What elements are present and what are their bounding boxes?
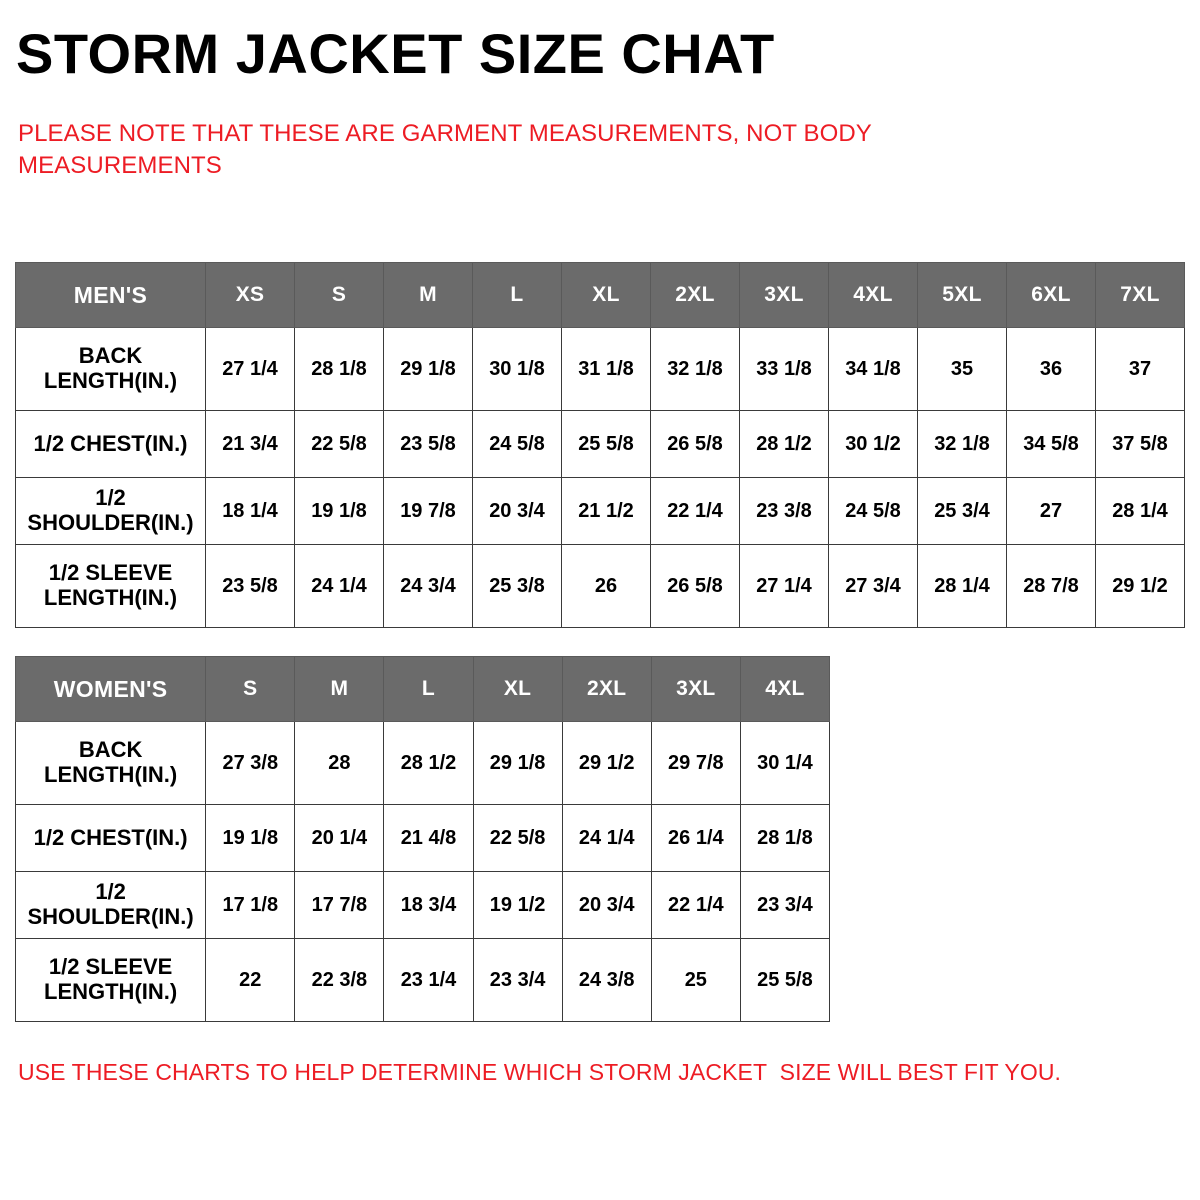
womens-table-head: WOMEN'SSMLXL2XL3XL4XL bbox=[16, 657, 830, 722]
mens-cell-2-9: 27 bbox=[1007, 478, 1096, 545]
mens-column-header-6xl: 6XL bbox=[1007, 263, 1096, 328]
mens-cell-3-4: 26 bbox=[562, 545, 651, 628]
mens-cell-1-0: 21 3/4 bbox=[206, 411, 295, 478]
mens-column-header-l: L bbox=[473, 263, 562, 328]
mens-cell-1-5: 26 5/8 bbox=[651, 411, 740, 478]
womens-column-header-xl: XL bbox=[473, 657, 562, 722]
womens-cell-2-5: 22 1/4 bbox=[651, 872, 740, 939]
mens-cell-0-7: 34 1/8 bbox=[829, 328, 918, 411]
mens-table-body: BACKLENGTH(IN.)27 1/428 1/829 1/830 1/83… bbox=[16, 328, 1185, 628]
mens-cell-1-4: 25 5/8 bbox=[562, 411, 651, 478]
mens-cell-0-0: 27 1/4 bbox=[206, 328, 295, 411]
mens-cell-0-3: 30 1/8 bbox=[473, 328, 562, 411]
womens-cell-1-2: 21 4/8 bbox=[384, 805, 473, 872]
mens-cell-2-2: 19 7/8 bbox=[384, 478, 473, 545]
mens-column-header-4xl: 4XL bbox=[829, 263, 918, 328]
mens-cell-2-6: 23 3/8 bbox=[740, 478, 829, 545]
mens-column-header-xl: XL bbox=[562, 263, 651, 328]
mens-cell-0-1: 28 1/8 bbox=[295, 328, 384, 411]
womens-cell-2-1: 17 7/8 bbox=[295, 872, 384, 939]
mens-cell-3-6: 27 1/4 bbox=[740, 545, 829, 628]
mens-row-label-3: 1/2 SLEEVELENGTH(IN.) bbox=[16, 545, 206, 628]
garment-measurement-note: PLEASE NOTE THAT THESE ARE GARMENT MEASU… bbox=[18, 118, 978, 181]
mens-cell-0-6: 33 1/8 bbox=[740, 328, 829, 411]
womens-cell-0-0: 27 3/8 bbox=[206, 722, 295, 805]
womens-column-header-2xl: 2XL bbox=[562, 657, 651, 722]
mens-cell-1-9: 34 5/8 bbox=[1007, 411, 1096, 478]
mens-cell-0-2: 29 1/8 bbox=[384, 328, 473, 411]
womens-cell-0-4: 29 1/2 bbox=[562, 722, 651, 805]
mens-cell-2-3: 20 3/4 bbox=[473, 478, 562, 545]
chart-usage-note: USE THESE CHARTS TO HELP DETERMINE WHICH… bbox=[18, 1058, 1158, 1088]
womens-row-label-0: BACKLENGTH(IN.) bbox=[16, 722, 206, 805]
mens-column-header-5xl: 5XL bbox=[918, 263, 1007, 328]
womens-cell-3-6: 25 5/8 bbox=[740, 939, 829, 1022]
table-row: 1/2 CHEST(IN.)19 1/820 1/421 4/822 5/824… bbox=[16, 805, 830, 872]
mens-cell-3-0: 23 5/8 bbox=[206, 545, 295, 628]
table-row: 1/2 SLEEVELENGTH(IN.)23 5/824 1/424 3/42… bbox=[16, 545, 1185, 628]
mens-cell-1-6: 28 1/2 bbox=[740, 411, 829, 478]
womens-cell-0-1: 28 bbox=[295, 722, 384, 805]
womens-size-table: WOMEN'SSMLXL2XL3XL4XL BACKLENGTH(IN.)27 … bbox=[15, 656, 830, 1022]
mens-cell-1-1: 22 5/8 bbox=[295, 411, 384, 478]
mens-cell-3-8: 28 1/4 bbox=[918, 545, 1007, 628]
womens-column-header-s: S bbox=[206, 657, 295, 722]
mens-cell-2-7: 24 5/8 bbox=[829, 478, 918, 545]
womens-row-label-3: 1/2 SLEEVELENGTH(IN.) bbox=[16, 939, 206, 1022]
mens-cell-0-8: 35 bbox=[918, 328, 1007, 411]
womens-cell-3-4: 24 3/8 bbox=[562, 939, 651, 1022]
mens-column-header-s: S bbox=[295, 263, 384, 328]
mens-cell-0-5: 32 1/8 bbox=[651, 328, 740, 411]
mens-row-label-2: 1/2 SHOULDER(IN.) bbox=[16, 478, 206, 545]
mens-table-head: MEN'SXSSMLXL2XL3XL4XL5XL6XL7XL bbox=[16, 263, 1185, 328]
table-row: BACKLENGTH(IN.)27 1/428 1/829 1/830 1/83… bbox=[16, 328, 1185, 411]
mens-cell-3-5: 26 5/8 bbox=[651, 545, 740, 628]
womens-cell-2-2: 18 3/4 bbox=[384, 872, 473, 939]
table-row: 1/2 SHOULDER(IN.)18 1/419 1/819 7/820 3/… bbox=[16, 478, 1185, 545]
mens-cell-1-3: 24 5/8 bbox=[473, 411, 562, 478]
womens-table-body: BACKLENGTH(IN.)27 3/82828 1/229 1/829 1/… bbox=[16, 722, 830, 1022]
mens-cell-1-8: 32 1/8 bbox=[918, 411, 1007, 478]
mens-row-label-1: 1/2 CHEST(IN.) bbox=[16, 411, 206, 478]
mens-cell-0-4: 31 1/8 bbox=[562, 328, 651, 411]
table-row: 1/2 CHEST(IN.)21 3/422 5/823 5/824 5/825… bbox=[16, 411, 1185, 478]
mens-cell-2-1: 19 1/8 bbox=[295, 478, 384, 545]
womens-column-header-l: L bbox=[384, 657, 473, 722]
mens-column-header-2xl: 2XL bbox=[651, 263, 740, 328]
mens-size-table: MEN'SXSSMLXL2XL3XL4XL5XL6XL7XL BACKLENGT… bbox=[15, 262, 1185, 628]
table-row: 1/2 SHOULDER(IN.)17 1/817 7/818 3/419 1/… bbox=[16, 872, 830, 939]
mens-cell-2-0: 18 1/4 bbox=[206, 478, 295, 545]
table-row: BACKLENGTH(IN.)27 3/82828 1/229 1/829 1/… bbox=[16, 722, 830, 805]
mens-cell-0-10: 37 bbox=[1096, 328, 1185, 411]
mens-cell-1-10: 37 5/8 bbox=[1096, 411, 1185, 478]
mens-header-row: MEN'SXSSMLXL2XL3XL4XL5XL6XL7XL bbox=[16, 263, 1185, 328]
womens-cell-0-2: 28 1/2 bbox=[384, 722, 473, 805]
womens-header-row: WOMEN'SSMLXL2XL3XL4XL bbox=[16, 657, 830, 722]
mens-cell-2-10: 28 1/4 bbox=[1096, 478, 1185, 545]
mens-row-label-0: BACKLENGTH(IN.) bbox=[16, 328, 206, 411]
mens-cell-1-2: 23 5/8 bbox=[384, 411, 473, 478]
womens-cell-1-3: 22 5/8 bbox=[473, 805, 562, 872]
womens-cell-2-3: 19 1/2 bbox=[473, 872, 562, 939]
womens-column-header-3xl: 3XL bbox=[651, 657, 740, 722]
womens-cell-1-5: 26 1/4 bbox=[651, 805, 740, 872]
womens-cell-3-0: 22 bbox=[206, 939, 295, 1022]
womens-cell-1-4: 24 1/4 bbox=[562, 805, 651, 872]
mens-cell-2-4: 21 1/2 bbox=[562, 478, 651, 545]
womens-row-label-1: 1/2 CHEST(IN.) bbox=[16, 805, 206, 872]
womens-column-header-m: M bbox=[295, 657, 384, 722]
womens-cell-3-1: 22 3/8 bbox=[295, 939, 384, 1022]
mens-cell-3-7: 27 3/4 bbox=[829, 545, 918, 628]
mens-cell-3-9: 28 7/8 bbox=[1007, 545, 1096, 628]
womens-cell-1-0: 19 1/8 bbox=[206, 805, 295, 872]
mens-column-header-m: M bbox=[384, 263, 473, 328]
mens-cell-3-10: 29 1/2 bbox=[1096, 545, 1185, 628]
mens-table-corner-label: MEN'S bbox=[16, 263, 206, 328]
womens-cell-1-6: 28 1/8 bbox=[740, 805, 829, 872]
womens-cell-0-5: 29 7/8 bbox=[651, 722, 740, 805]
mens-cell-2-5: 22 1/4 bbox=[651, 478, 740, 545]
womens-cell-2-4: 20 3/4 bbox=[562, 872, 651, 939]
womens-table-corner-label: WOMEN'S bbox=[16, 657, 206, 722]
womens-cell-3-3: 23 3/4 bbox=[473, 939, 562, 1022]
womens-row-label-2: 1/2 SHOULDER(IN.) bbox=[16, 872, 206, 939]
womens-column-header-4xl: 4XL bbox=[740, 657, 829, 722]
mens-column-header-xs: XS bbox=[206, 263, 295, 328]
womens-cell-2-6: 23 3/4 bbox=[740, 872, 829, 939]
page-title: STORM JACKET SIZE CHAT bbox=[16, 26, 775, 82]
womens-cell-0-6: 30 1/4 bbox=[740, 722, 829, 805]
womens-cell-2-0: 17 1/8 bbox=[206, 872, 295, 939]
mens-cell-2-8: 25 3/4 bbox=[918, 478, 1007, 545]
womens-cell-3-2: 23 1/4 bbox=[384, 939, 473, 1022]
mens-cell-3-1: 24 1/4 bbox=[295, 545, 384, 628]
mens-column-header-3xl: 3XL bbox=[740, 263, 829, 328]
mens-column-header-7xl: 7XL bbox=[1096, 263, 1185, 328]
womens-cell-1-1: 20 1/4 bbox=[295, 805, 384, 872]
mens-cell-3-2: 24 3/4 bbox=[384, 545, 473, 628]
mens-cell-3-3: 25 3/8 bbox=[473, 545, 562, 628]
womens-cell-3-5: 25 bbox=[651, 939, 740, 1022]
mens-cell-1-7: 30 1/2 bbox=[829, 411, 918, 478]
womens-cell-0-3: 29 1/8 bbox=[473, 722, 562, 805]
table-row: 1/2 SLEEVELENGTH(IN.)2222 3/823 1/423 3/… bbox=[16, 939, 830, 1022]
mens-cell-0-9: 36 bbox=[1007, 328, 1096, 411]
